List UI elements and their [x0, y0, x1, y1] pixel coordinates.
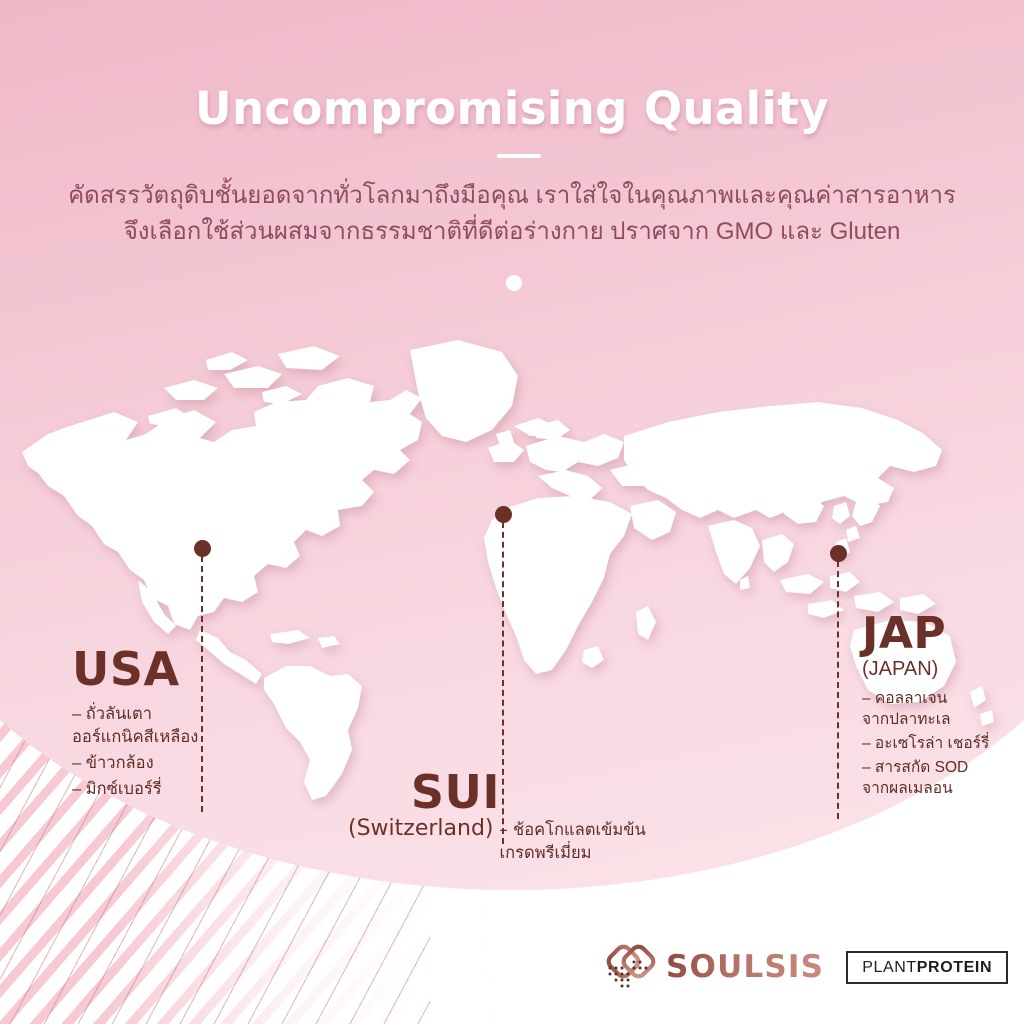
usa-item-2: – ข้าวกล้อง	[72, 752, 198, 775]
badge-bold-text: PROTEIN	[917, 959, 992, 976]
jap-item-3: – สารสกัด SOD จากผลเมลอน	[862, 757, 989, 799]
badge-light-text: PLANT	[862, 959, 917, 976]
jap-item-2: – อะเซโรล่า เชอร์รี่	[862, 733, 989, 754]
jap-pin[interactable]	[830, 545, 847, 562]
page-title: Uncompromising Quality	[0, 82, 1024, 135]
subtitle-line-1: คัดสรรวัตถุดิบชั้นยอดจากทั่วโลกมาถึงมือค…	[0, 178, 1024, 214]
usa-item-1: – ถั่วลันเตา ออร์แกนิคสีเหลือง	[72, 703, 198, 749]
usa-item-3: – มิกซ์เบอร์รี่	[72, 778, 198, 801]
jap-connector	[837, 561, 839, 819]
top-right-stripes	[854, 0, 1024, 80]
sui-pin[interactable]	[495, 506, 512, 523]
country-block-jap: JAP (JAPAN) – คอลลาเจน จากปลาทะเล – อะเซ…	[862, 612, 989, 802]
usa-connector	[201, 556, 203, 812]
country-block-usa: USA – ถั่วลันเตา ออร์แกนิคสีเหลือง – ข้า…	[72, 645, 198, 804]
decorative-dot	[506, 275, 522, 291]
country-block-sui: SUI (Switzerland) – ช้อคโกแลตเข้มข้น เกร…	[348, 768, 646, 864]
jap-title: JAP	[862, 612, 989, 656]
jap-ingredient-list: – คอลลาเจน จากปลาทะเล – อะเซโรล่า เชอร์ร…	[862, 688, 989, 799]
plant-protein-badge: PLANTPROTEIN	[846, 951, 1008, 984]
subtitle-line-2: จึงเลือกใช้ส่วนผสมจากธรรมชาติที่ดีต่อร่า…	[0, 214, 1024, 250]
sui-item-1: – ช้อคโกแลตเข้มข้น เกรดพรีเมี่ยม	[500, 816, 646, 864]
brand-name: SOULSIS	[666, 949, 824, 985]
footer: SOULSIS PLANTPROTEIN	[604, 940, 1008, 994]
usa-pin[interactable]	[194, 540, 211, 557]
sui-title: SUI	[348, 768, 500, 816]
infographic-canvas: Uncompromising Quality คัดสรรวัตถุดิบชั้…	[0, 0, 1024, 1024]
sui-subtitle: (Switzerland)	[348, 816, 494, 842]
usa-title: USA	[72, 645, 198, 693]
sui-detail-row: (Switzerland) – ช้อคโกแลตเข้มข้น เกรดพรี…	[348, 816, 646, 864]
jap-subtitle: (JAPAN)	[862, 656, 989, 682]
usa-ingredient-list: – ถั่วลันเตา ออร์แกนิคสีเหลือง – ข้าวกล้…	[72, 703, 198, 801]
soulsis-logo-icon	[604, 940, 658, 994]
subtitle: คัดสรรวัตถุดิบชั้นยอดจากทั่วโลกมาถึงมือค…	[0, 178, 1024, 250]
jap-item-1: – คอลลาเจน จากปลาทะเล	[862, 688, 989, 730]
title-divider	[497, 154, 541, 158]
